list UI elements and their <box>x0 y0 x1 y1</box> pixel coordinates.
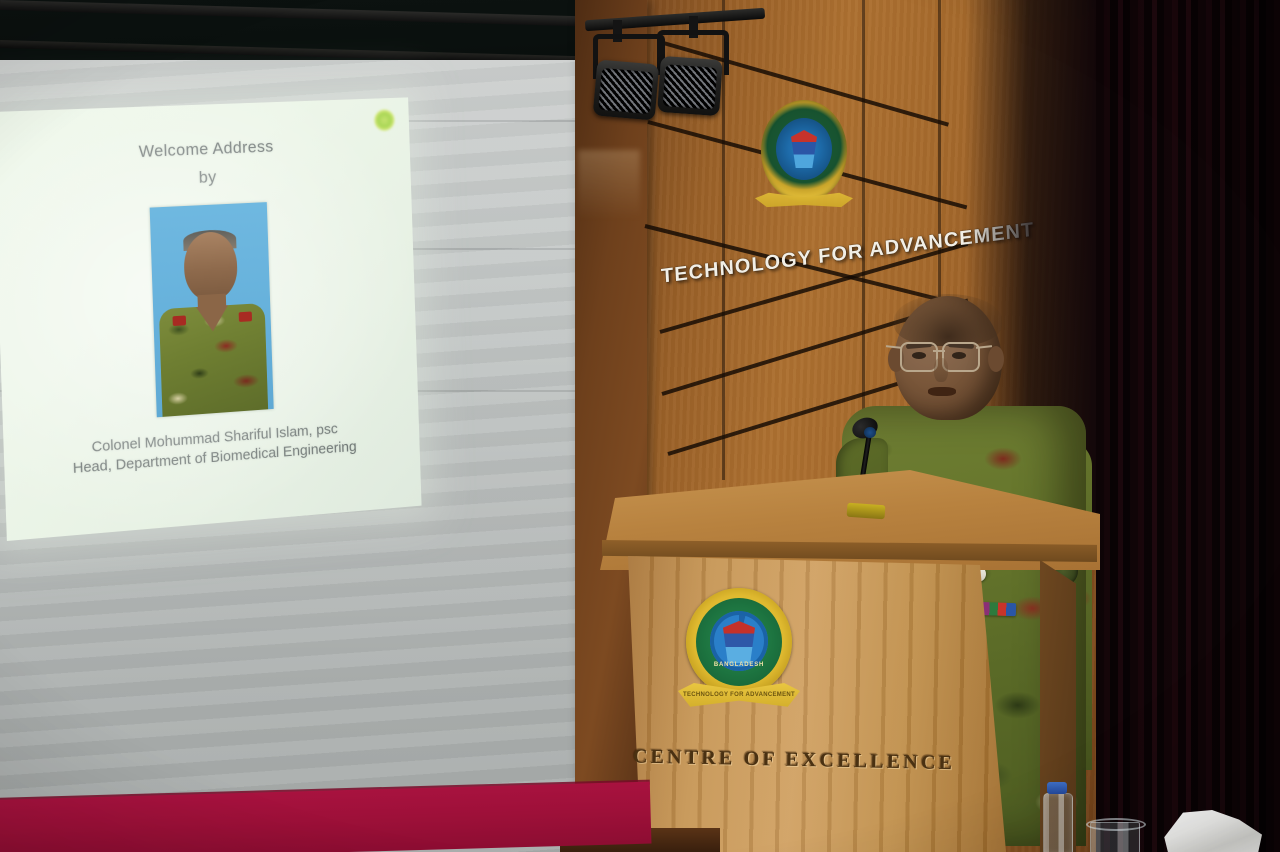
speaker-ear <box>988 346 1004 372</box>
par-light-face <box>598 68 653 114</box>
wall-groove-vertical <box>938 0 941 300</box>
stage-curtain-shading <box>1096 0 1280 852</box>
mist-podium-emblem: BANGLADESH TECHNOLOGY FOR ADVANCEMENT <box>678 588 800 720</box>
slide-caption: Colonel Mohummad Shariful Islam, psc Hea… <box>4 414 420 485</box>
led-par-stage-light <box>593 59 660 120</box>
drinking-glass-rim <box>1086 818 1146 831</box>
projected-slide: Welcome Address by Colonel Mohummad Shar… <box>0 97 422 541</box>
speaker-hair <box>894 294 1002 346</box>
par-light-face <box>663 64 718 110</box>
slide-portrait-photo <box>150 202 274 417</box>
auditorium-photo-scene: TECHNOLOGY FOR ADVANCEMENT Welcome Addre… <box>0 0 1280 852</box>
mist-wall-emblem <box>755 100 853 225</box>
bottle-cap <box>1047 782 1067 794</box>
led-par-stage-light <box>657 56 723 116</box>
microphone-ring <box>864 427 876 438</box>
speaker-nose <box>934 358 948 382</box>
eyeglasses-lens <box>900 342 938 372</box>
stage-light-rig <box>585 0 765 125</box>
water-bottle <box>1041 782 1073 852</box>
emblem-country-text: BANGLADESH <box>678 662 800 668</box>
microphone-base <box>847 503 886 520</box>
pillar-highlight <box>578 150 640 220</box>
bottle-body <box>1043 793 1073 852</box>
lighting-truss-bar <box>585 8 765 32</box>
speaker-mouth <box>928 387 956 396</box>
emblem-ribbon-text: TECHNOLOGY FOR ADVANCEMENT <box>678 692 800 698</box>
eyeglasses-bridge <box>933 350 945 352</box>
mist-emblem-icon <box>374 109 395 131</box>
